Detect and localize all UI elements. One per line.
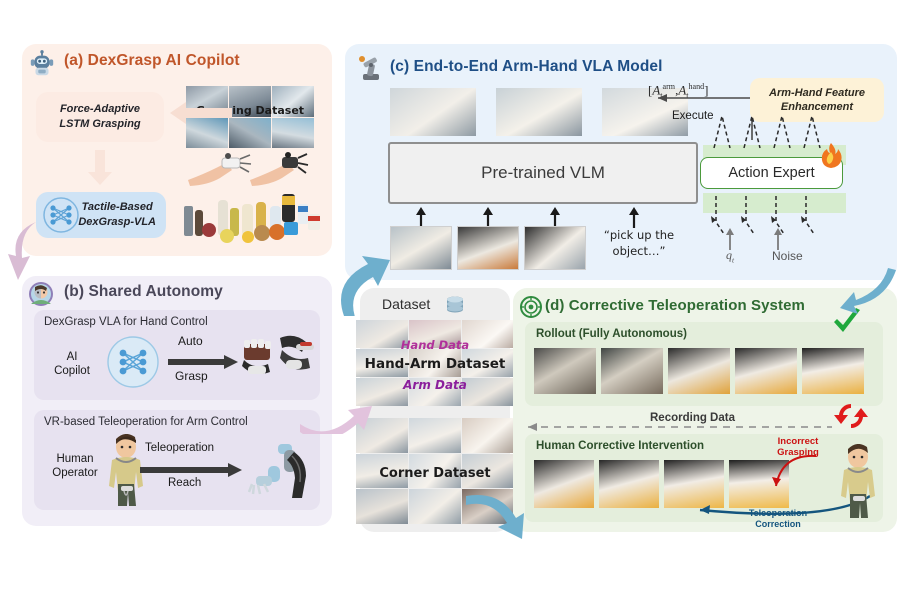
arrow-dataset-to-panel-c bbox=[330, 244, 392, 316]
input-frame bbox=[457, 226, 519, 270]
teleoperation-correction-label: Teleoperation Correction bbox=[732, 508, 824, 531]
robot-hand-photos bbox=[186, 150, 314, 188]
panel-a-title: (a) DexGrasp AI Copilot bbox=[64, 52, 240, 70]
incorrect-grasping-label: Incorrect Grasping bbox=[762, 436, 834, 459]
auto-grasp-arrow bbox=[168, 354, 240, 370]
dataset-to-lstm-arrow bbox=[166, 100, 232, 126]
auto-label: Auto bbox=[178, 334, 203, 348]
human-operator-label: Human Operator bbox=[42, 452, 108, 481]
rollout-frames bbox=[534, 348, 864, 394]
rollout-subpanel-title: Rollout (Fully Autonomous) bbox=[536, 328, 687, 340]
rollout-frame bbox=[802, 348, 864, 394]
intervention-frame bbox=[534, 460, 594, 508]
arm-data-label: Arm Data bbox=[356, 378, 514, 392]
pre-trained-vlm-box: Pre-trained VLM bbox=[388, 142, 698, 204]
teleoperation-label: Teleoperation bbox=[145, 442, 214, 454]
panel-c-title: (c) End-to-End Arm-Hand VLA Model bbox=[390, 58, 663, 76]
hand-data-label: Hand Data bbox=[356, 338, 514, 352]
robot-arm-photo bbox=[248, 438, 316, 504]
qt-label: qt bbox=[726, 248, 734, 264]
figure-canvas: (a) DexGrasp AI Copilot Grasping Dataset bbox=[0, 0, 900, 600]
robot-hand-photo-2 bbox=[276, 330, 318, 378]
robot-arm-icon bbox=[355, 54, 385, 82]
vlm-input-image-strip bbox=[390, 226, 590, 270]
panel-d-title: (d) Corrective Teleoperation System bbox=[545, 297, 805, 314]
noise-label: Noise bbox=[772, 249, 803, 263]
neural-net-circle-icon bbox=[106, 335, 160, 389]
lstm-to-vla-arrow bbox=[86, 150, 114, 186]
hand-control-subpanel-title: DexGrasp VLA for Hand Control bbox=[44, 316, 208, 328]
rollout-frame bbox=[601, 348, 663, 394]
ai-copilot-label: AI Copilot bbox=[44, 350, 100, 379]
action-token-arrows-top bbox=[700, 110, 846, 150]
corner-dataset-label: Corner Dataset bbox=[356, 466, 514, 481]
teleoperation-reach-arrow bbox=[140, 462, 244, 478]
human-operator-photo-d bbox=[836, 444, 880, 518]
input-frame bbox=[524, 226, 586, 270]
lstm-line1: Force-Adaptive bbox=[60, 103, 140, 115]
red-recycle-arrows-icon bbox=[832, 400, 870, 432]
vlm-input-arrows bbox=[388, 206, 688, 228]
neural-net-icon bbox=[42, 196, 80, 234]
rollout-frame bbox=[735, 348, 797, 394]
rollout-frame bbox=[496, 88, 582, 136]
arrow-a-to-b bbox=[6, 222, 46, 284]
robot-head-icon bbox=[27, 50, 57, 78]
language-prompt: “pick up the object…” bbox=[592, 228, 686, 259]
object-set-photo bbox=[182, 188, 322, 246]
arrow-panel-c-to-panel-d bbox=[840, 268, 900, 320]
green-target-gear-icon bbox=[519, 296, 543, 318]
arrow-b-to-dataset bbox=[300, 376, 378, 434]
reach-label: Reach bbox=[168, 477, 201, 489]
lstm-line2: LSTM Grasping bbox=[59, 118, 140, 130]
human-intervention-subpanel-title: Human Corrective Intervention bbox=[536, 440, 704, 452]
input-frame bbox=[390, 226, 452, 270]
vla-line2: DexGrasp-VLA bbox=[78, 216, 156, 228]
rollout-frame bbox=[534, 348, 596, 394]
database-icon bbox=[445, 295, 465, 315]
rollout-frame bbox=[390, 88, 476, 136]
arm-control-subpanel-title: VR-based Teleoperation for Arm Control bbox=[44, 416, 248, 428]
panel-b-title: (b) Shared Autonomy bbox=[64, 283, 223, 301]
human-robot-avatar-icon bbox=[27, 281, 55, 307]
intervention-frame bbox=[599, 460, 659, 508]
hand-arm-dataset-label: Hand-Arm Dataset bbox=[352, 356, 518, 372]
recording-data-label: Recording Data bbox=[645, 412, 740, 424]
force-adaptive-lstm-box: Force-Adaptive LSTM Grasping bbox=[36, 92, 164, 142]
arrow-dataset-to-panel-d bbox=[462, 492, 532, 548]
vla-line1: Tactile-Based bbox=[82, 201, 153, 213]
grasp-label: Grasp bbox=[175, 369, 208, 383]
rollout-frame bbox=[668, 348, 730, 394]
robot-hand-photo-1 bbox=[238, 330, 280, 376]
